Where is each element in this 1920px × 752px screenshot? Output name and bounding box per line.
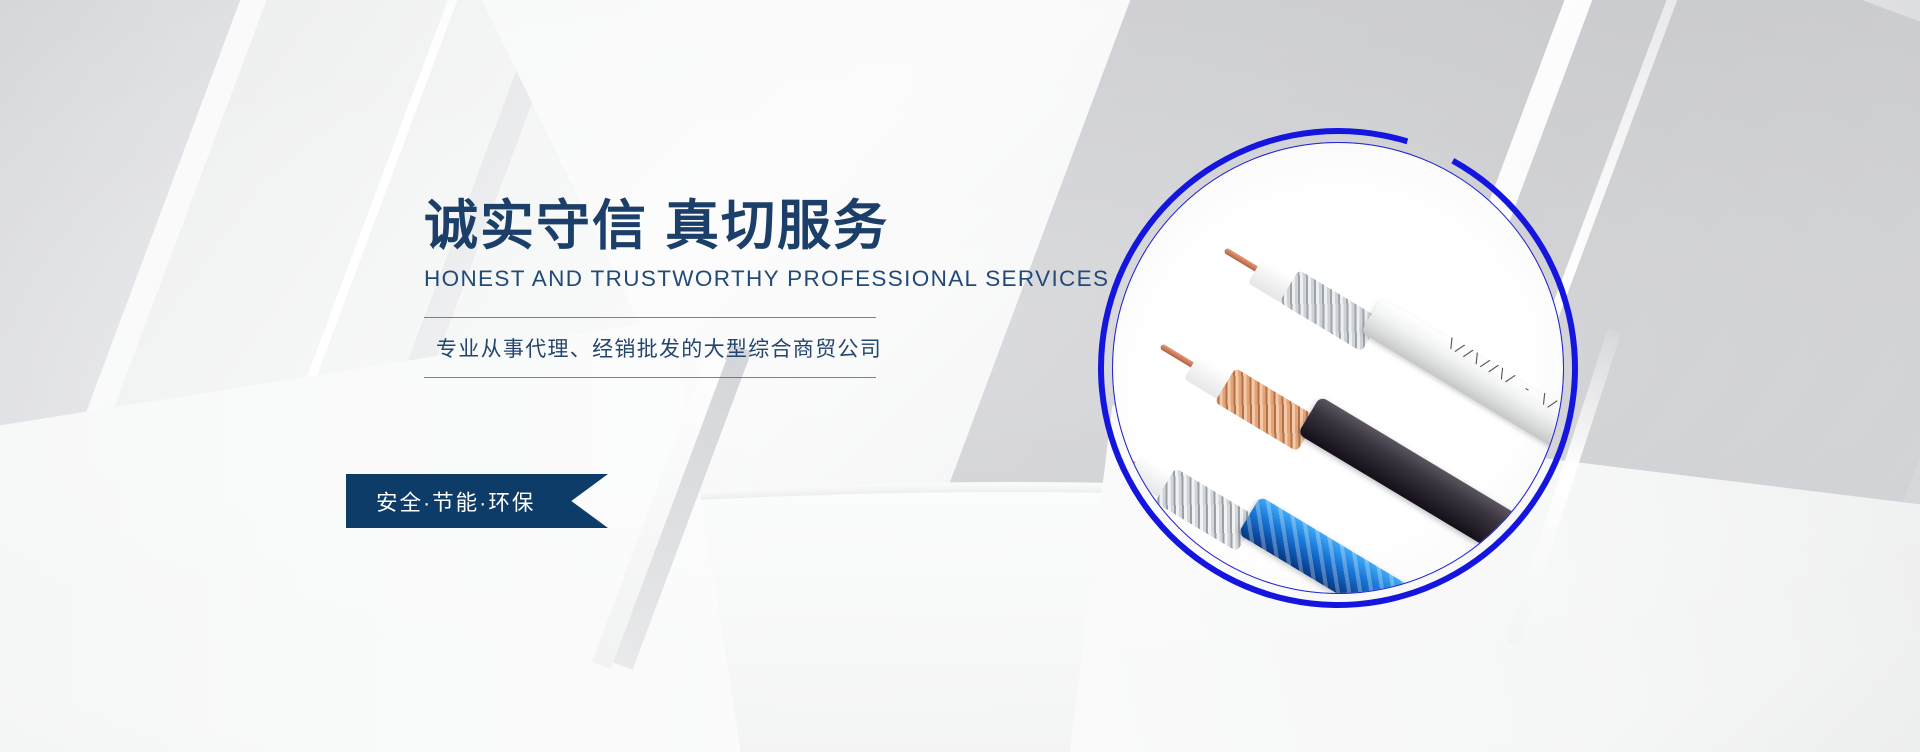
black-cable-shield: [1215, 368, 1318, 452]
banner-subheadline: HONEST AND TRUSTWORTHY PROFESSIONAL SERV…: [424, 266, 964, 292]
blue-cable-shield: [1155, 468, 1258, 552]
white-cable-shield: [1279, 270, 1381, 352]
black-jacket-coaxial-cable: [1298, 396, 1535, 562]
banner-headline: 诚实守信 真切服务: [424, 196, 964, 256]
divider-top: [424, 317, 876, 318]
hero-banner: 诚实守信 真切服务 HONEST AND TRUSTWORTHY PROFESS…: [0, 0, 1920, 752]
product-medallion: \//\//\/ - \/ -: [1112, 142, 1564, 594]
banner-copy: 诚实守信 真切服务 HONEST AND TRUSTWORTHY PROFESS…: [424, 196, 964, 378]
cable-jacket-printing: \//\//\/ - \/ -: [1434, 335, 1564, 462]
divider-bottom: [424, 377, 876, 378]
feature-ribbon-label: 安全·节能·环保: [346, 474, 608, 528]
banner-tagline: 专业从事代理、经销批发的大型综合商贸公司: [424, 318, 964, 377]
medallion-disc: \//\//\/ - \/ -: [1112, 142, 1564, 594]
